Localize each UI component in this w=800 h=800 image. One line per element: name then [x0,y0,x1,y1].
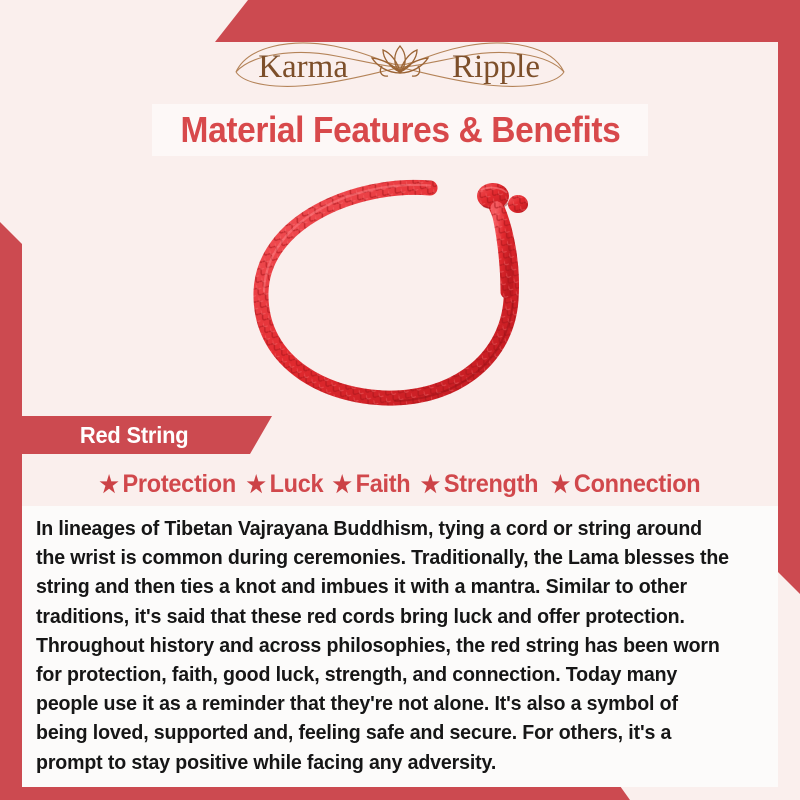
brand-logo-svg: Karma Ripple [230,32,570,98]
bracelet-loop [261,185,513,401]
benefit-label: Strength [444,470,538,499]
material-banner: Red String [22,416,272,454]
benefit-label: Luck [270,470,324,499]
page-title: Material Features & Benefits [180,112,620,148]
brand-name-right: Ripple [452,49,540,85]
red-bracelet-illustration [235,160,565,410]
benefit-label: Protection [123,470,236,499]
star-icon: ★ [421,473,440,496]
benefit-item-connection: ★ Connection [551,470,701,499]
benefits-row: ★ Protection ★ Luck ★ Faith ★ Strength ★… [22,464,778,504]
infographic-page: Karma Ripple Material Features & Benefit… [0,0,800,800]
lotus-icon [372,46,428,76]
title-band: Material Features & Benefits [152,104,648,156]
product-image [0,160,800,410]
brand-name-left: Karma [258,49,348,85]
benefit-item-strength: ★ Strength [421,470,539,499]
bracelet-knot [477,183,528,292]
star-icon: ★ [333,473,352,496]
benefit-item-luck: ★ Luck [247,470,324,499]
benefit-label: Connection [574,470,700,499]
material-name: Red String [80,422,189,449]
benefit-item-faith: ★ Faith [333,470,411,499]
description-block: In lineages of Tibetan Vajrayana Buddhis… [22,506,778,787]
star-icon: ★ [99,473,118,496]
benefit-label: Faith [356,470,411,499]
benefit-item-protection: ★ Protection [99,470,236,499]
brand-logo: Karma Ripple [0,30,800,100]
star-icon: ★ [551,473,570,496]
star-icon: ★ [247,473,266,496]
description-text: In lineages of Tibetan Vajrayana Buddhis… [36,514,731,777]
